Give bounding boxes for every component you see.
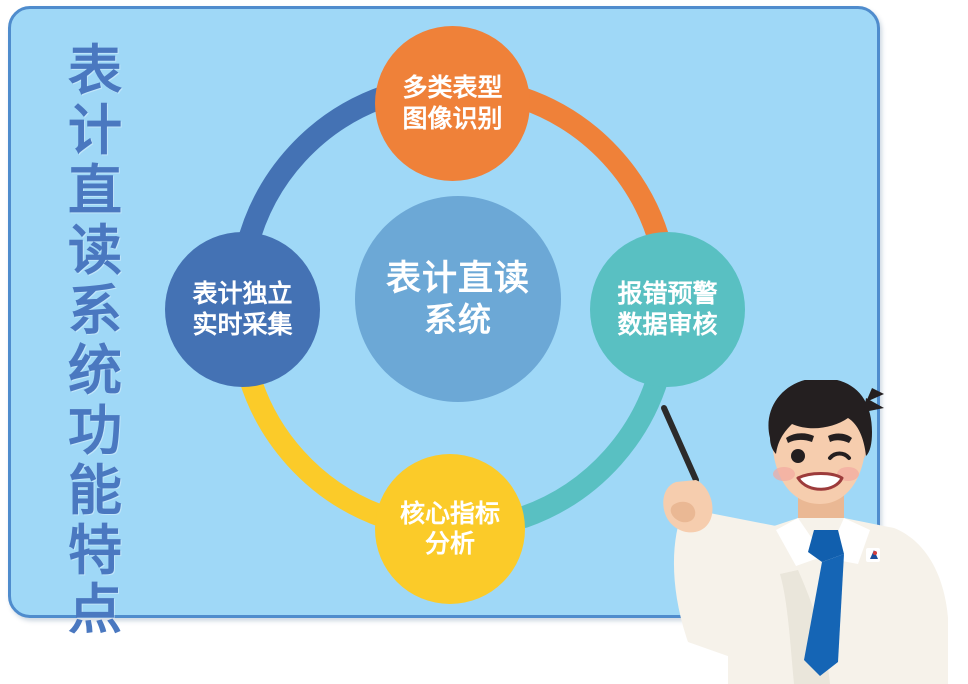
- title-char-7: 功: [68, 402, 122, 462]
- presenter-hair-spike-2: [864, 398, 884, 412]
- connector-right-to-bottom: [524, 362, 662, 517]
- title-char-2: 计: [68, 102, 122, 162]
- title-char-3: 直: [68, 162, 122, 222]
- cycle-node-center-label-1: 表计直读: [386, 258, 530, 301]
- presenter-badge-icon: [866, 548, 880, 562]
- title-char-5: 系: [68, 282, 122, 342]
- cycle-node-left-label-1: 表计独立: [192, 279, 292, 310]
- connector-top-to-right: [522, 98, 661, 247]
- presenter-eye-open: [791, 449, 805, 463]
- cycle-node-bottom-label-2: 分析: [425, 529, 475, 560]
- title-char-9: 特: [68, 522, 122, 582]
- cycle-node-bottom[interactable]: 核心指标 分析: [375, 454, 525, 604]
- page-title: 表计直读系统功能特点 表 计 直 读 系 统 功 能 特 点: [52, 42, 138, 602]
- cycle-node-top-label-2: 图像识别: [402, 104, 502, 135]
- cycle-node-right-label-2: 数据审核: [617, 310, 717, 341]
- cycle-node-right[interactable]: 报错预警 数据审核: [590, 232, 745, 387]
- cycle-node-right-label-1: 报错预警: [617, 279, 717, 310]
- cycle-node-left[interactable]: 表计独立 实时采集: [165, 232, 320, 387]
- cycle-node-top-label-1: 多类表型: [402, 73, 502, 104]
- pointer-stick-icon: [664, 408, 696, 480]
- cycle-node-center[interactable]: 表计直读 系统: [355, 196, 561, 402]
- title-char-10: 点: [68, 581, 122, 641]
- title-char-4: 读: [68, 222, 122, 282]
- cycle-node-center-label-2: 系统: [424, 300, 492, 340]
- connector-left-to-top: [247, 96, 386, 247]
- cycle-node-bottom-label-1: 核心指标: [400, 499, 500, 530]
- cycle-node-left-label-2: 实时采集: [192, 310, 292, 341]
- presenter-cheek-left: [773, 467, 795, 481]
- title-char-6: 统: [68, 342, 122, 402]
- title-char-8: 能: [68, 462, 122, 522]
- cycle-node-top[interactable]: 多类表型 图像识别: [375, 26, 530, 181]
- presenter-illustration: [648, 380, 968, 684]
- connector-bottom-to-left: [246, 364, 384, 517]
- title-char-1: 表: [68, 42, 122, 102]
